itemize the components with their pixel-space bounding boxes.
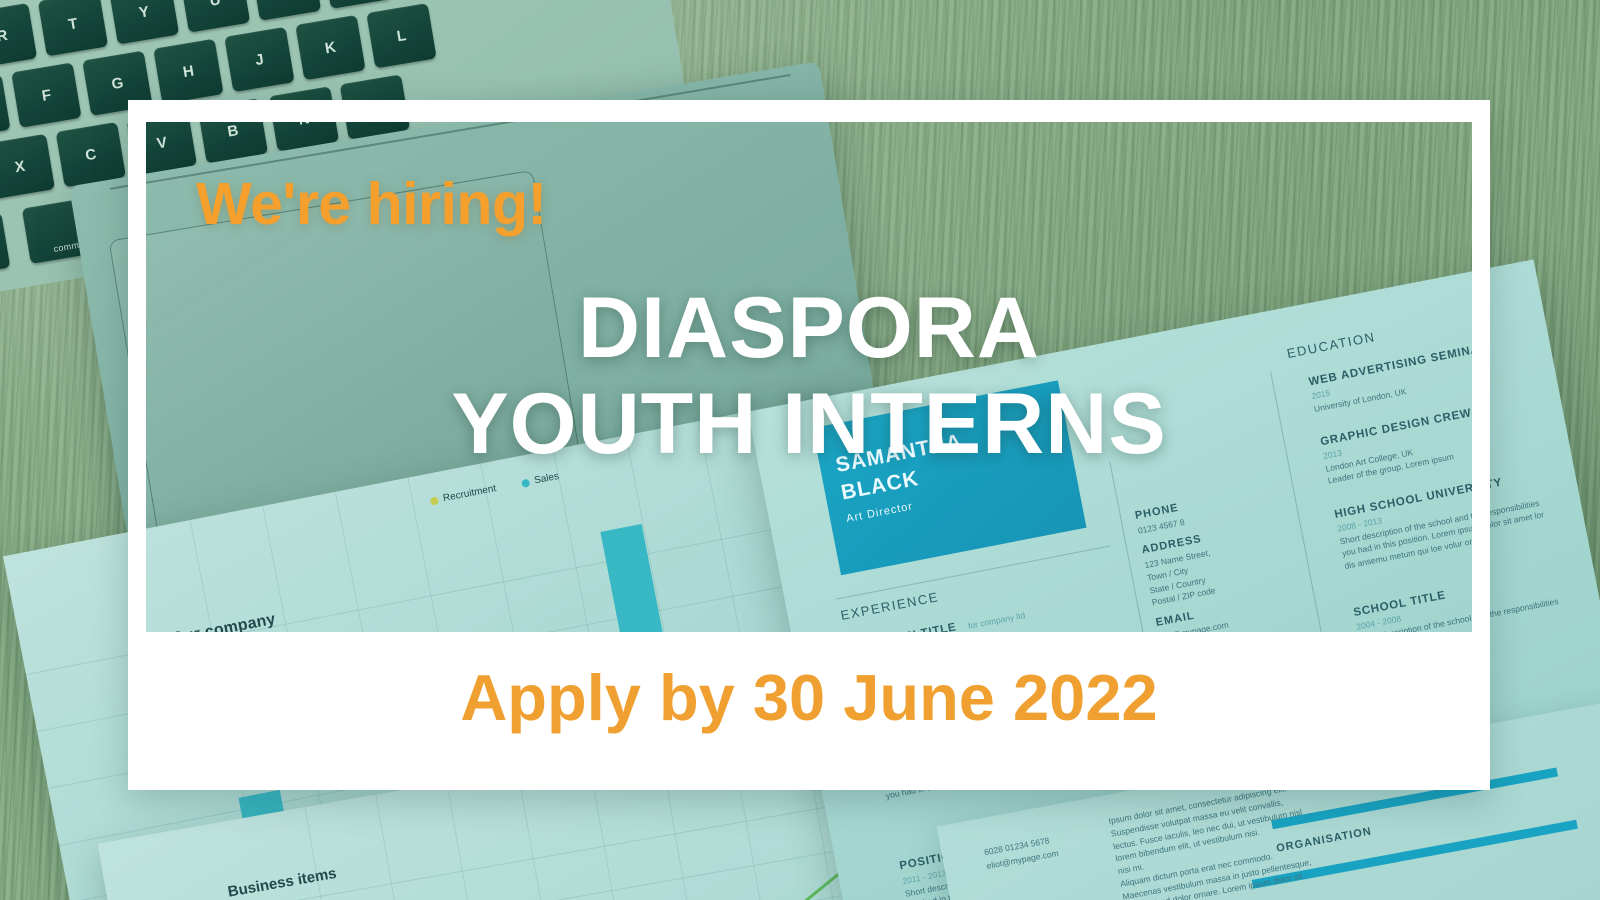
keyboard-key-option: option bbox=[0, 212, 10, 277]
keyboard-key-u: U bbox=[180, 0, 250, 33]
headline-line-1: DIASPORA bbox=[146, 280, 1472, 376]
card-resume-role: Art Director bbox=[845, 500, 914, 525]
legend-swatch bbox=[430, 496, 439, 505]
deadline-text: Apply by 30 June 2022 bbox=[128, 660, 1490, 735]
page-title: DIASPORA YOUTH INTERNS bbox=[146, 280, 1472, 473]
bar-column bbox=[600, 524, 708, 632]
legend-label: Recruitment bbox=[442, 483, 497, 504]
keyboard-key-i: I bbox=[251, 0, 321, 21]
line-series-green-points bbox=[413, 857, 877, 900]
keyboard-key-d: D bbox=[0, 74, 11, 139]
keyboard-key-l: L bbox=[366, 3, 436, 68]
keyboard-key-x: X bbox=[0, 134, 55, 199]
experience-company: for company ltd bbox=[967, 610, 1026, 631]
recruitment-poster: WERTYUIOPSDFGHJKLZXCVBNMaltoptioncommand… bbox=[0, 0, 1600, 900]
letter-body: Ipsum dolor sit amet, consectetur adipis… bbox=[1108, 777, 1335, 900]
keyboard-key-c: C bbox=[56, 122, 126, 187]
legend-item: Sales bbox=[521, 471, 560, 489]
eyebrow-text: We're hiring! bbox=[196, 170, 547, 238]
poster-card: WERTYUIOPSDFGHJKLZXCVBNMaltoptioncommand… bbox=[128, 100, 1490, 790]
keyboard-key-j: J bbox=[224, 27, 294, 92]
keyboard-key-y: Y bbox=[109, 0, 179, 45]
keyboard-key-t: T bbox=[38, 0, 108, 56]
headline-line-2: YOUTH INTERNS bbox=[146, 376, 1472, 472]
legend-swatch bbox=[521, 478, 530, 487]
keyboard-key-f: F bbox=[11, 62, 81, 127]
card-photo-window: WERTYUIOPSDFGHJKLZXCVBNMaltoptioncommand… bbox=[146, 122, 1472, 632]
bar-segment-sales bbox=[600, 524, 680, 632]
keyboard-key-o: O bbox=[322, 0, 392, 9]
keyboard-key-k: K bbox=[295, 15, 365, 80]
card-bar-chart-legend: RecruitmentSales bbox=[429, 471, 560, 507]
legend-label: Sales bbox=[533, 471, 560, 487]
keyboard-key-r: R bbox=[0, 3, 37, 68]
experience-title: POSITION TITLE bbox=[856, 621, 958, 632]
keyboard-key-h: H bbox=[153, 39, 223, 104]
